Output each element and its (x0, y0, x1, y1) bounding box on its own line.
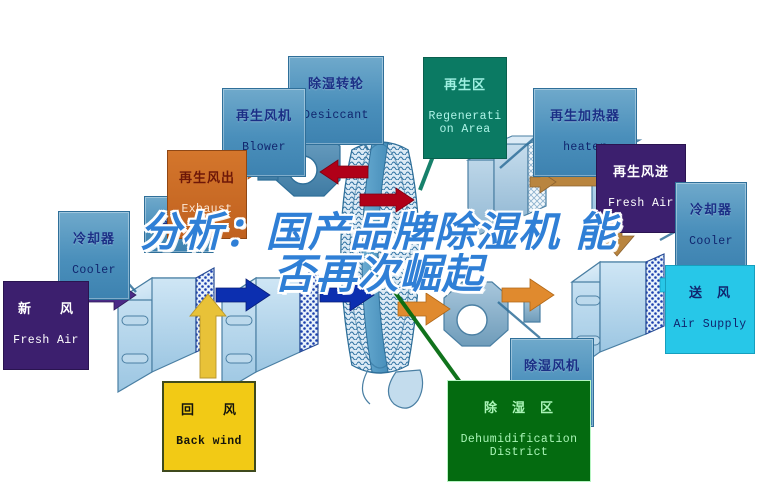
label-regeneration-area[interactable]: 再生区 Regenerati on Area (423, 57, 507, 159)
label-dehum-district-en: Dehumidification District (452, 434, 586, 460)
label-cooler-right-cn: 冷却器 (680, 203, 742, 218)
label-back-wind[interactable]: 回 风 Back wind (162, 381, 256, 472)
cooler-unit-middle (222, 268, 318, 392)
label-exhaust[interactable]: 再生风出 Exhaust (167, 150, 247, 239)
label-cooler-left-cn: 冷却器 (63, 232, 125, 247)
label-dehumidification-district[interactable]: 除 湿 区 Dehumidification District (447, 380, 591, 482)
label-regeneration-area-cn: 再生区 (428, 78, 502, 93)
label-fresh-air-inlet[interactable]: 新 风 Fresh Air (3, 281, 89, 370)
label-dehum-district-cn: 除 湿 区 (452, 401, 586, 416)
desiccant-rotor (341, 142, 423, 408)
label-cooler-right-en: Cooler (680, 236, 742, 249)
label-regeneration-heater-cn: 再生加热器 (538, 109, 632, 124)
label-exhaust-en: Exhaust (172, 204, 242, 217)
label-air-supply-cn: 送 风 (670, 286, 750, 301)
diagram-canvas: 除湿转轮 Desiccant 再生风机 Blower 再生区 Regenerat… (0, 0, 757, 488)
label-dehum-blower-cn: 除湿风机 (515, 359, 589, 374)
label-back-wind-cn: 回 风 (168, 403, 250, 418)
label-exhaust-cn: 再生风出 (172, 171, 242, 186)
label-fresh-air-cn: 新 风 (8, 302, 84, 317)
label-regeneration-area-en: Regenerati on Area (428, 111, 502, 137)
label-cooler-right[interactable]: 冷却器 Cooler (675, 182, 747, 271)
label-fresh-air-en: Fresh Air (8, 335, 84, 348)
label-air-supply[interactable]: 送 风 Air Supply (665, 265, 755, 354)
label-regeneration-fresh-air-inlet[interactable]: 再生风进 Fresh Air (596, 144, 686, 233)
label-cooler-left-en: Cooler (63, 265, 125, 278)
label-regeneration-blower-cn: 再生风机 (227, 109, 301, 124)
label-regen-fresh-air-cn: 再生风进 (601, 165, 681, 180)
label-air-supply-en: Air Supply (670, 319, 750, 332)
label-regen-fresh-air-en: Fresh Air (601, 198, 681, 211)
label-back-wind-en: Back wind (168, 436, 250, 449)
